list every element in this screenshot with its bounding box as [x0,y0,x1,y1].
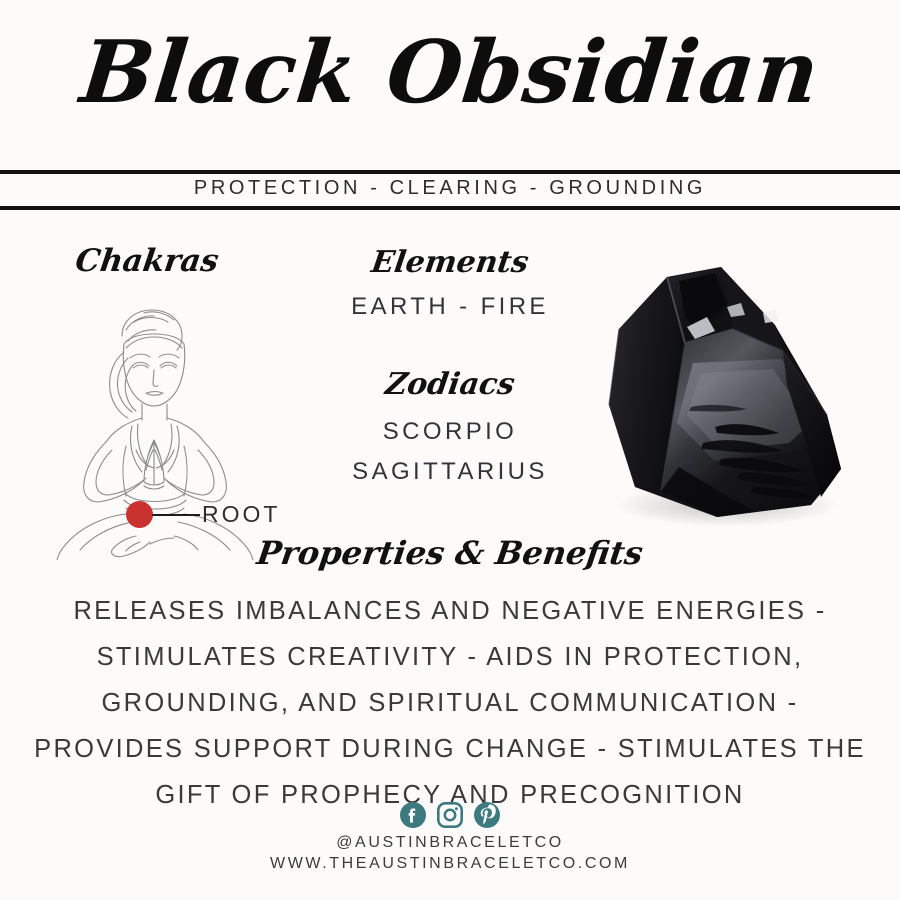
chakra-point-root-label: ROOT [202,501,280,528]
website-url[interactable]: WWW.THEAUSTINBRACELETCO.COM [0,855,900,873]
keywords-banner: PROTECTION - CLEARING - GROUNDING [0,177,900,200]
properties-heading: Properties & Benefits [147,534,752,572]
instagram-icon[interactable] [437,802,463,828]
elements-heading: Elements [298,245,603,280]
obsidian-stone-image [575,255,875,530]
properties-text: RELEASES IMBALANCES AND NEGATIVE ENERGIE… [30,588,870,818]
crystal-info-card: Black Obsidian PROTECTION - CLEARING - G… [0,0,900,900]
chakra-point-root-leader-line [152,514,200,516]
divider-bottom [0,206,900,210]
pinterest-icon[interactable] [474,802,500,828]
chakras-heading: Chakras [49,243,244,279]
zodiac-value-2: SAGITTARIUS [300,458,600,486]
page-title: Black Obsidian [0,28,900,118]
chakra-point-root-dot [126,501,153,528]
zodiac-value-1: SCORPIO [300,418,600,446]
elements-value: EARTH - FIRE [300,293,600,321]
zodiacs-heading: Zodiacs [298,367,603,402]
facebook-icon[interactable] [400,802,426,828]
divider-top [0,170,900,174]
social-links [0,802,900,828]
social-handle[interactable]: @AUSTINBRACELETCO [0,834,900,852]
